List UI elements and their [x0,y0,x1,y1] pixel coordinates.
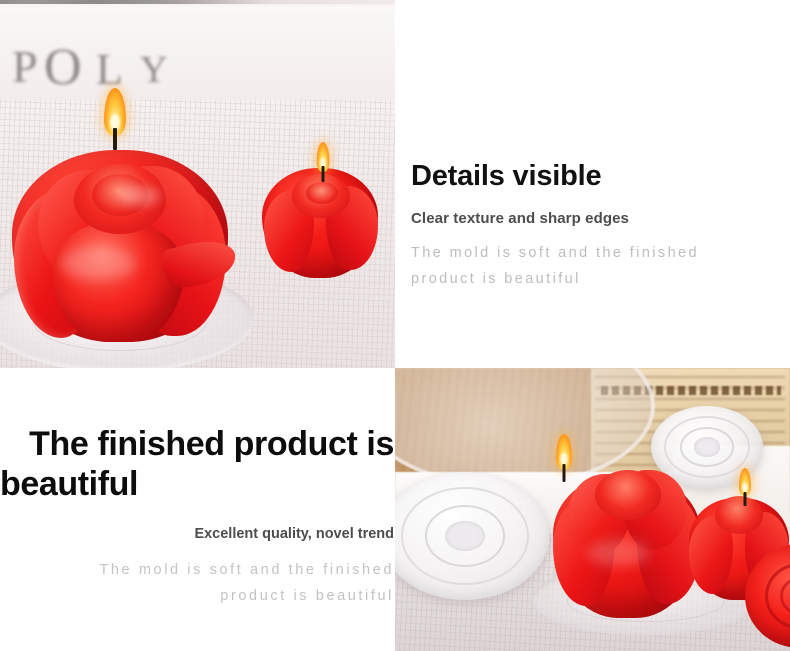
candle-flame-icon [312,142,334,182]
text-block-details-visible: Details visible Clear texture and sharp … [411,160,790,292]
body-line-2: product is beautiful [0,584,394,609]
product-banner: P O L Y [0,0,790,651]
text-panel-top-right: Details visible Clear texture and sharp … [395,0,790,368]
subheading-excellent-quality: Excellent quality, novel trend [0,526,394,542]
heading-details-visible: Details visible [411,160,790,192]
subheading-clear-texture: Clear texture and sharp edges [411,210,790,227]
body-line-1: The mold is soft and the finished [411,241,790,266]
candle-flame-icon [551,434,577,482]
body-text-bottom-left: The mold is soft and the finished produc… [0,558,394,609]
heading-line-1: The finished product is [29,425,394,463]
blurred-letter-icon: P [12,40,38,93]
heading-finished-product: The finished product is beautiful [0,424,394,504]
body-line-2: product is beautiful [411,267,790,292]
body-text-top-right: The mold is soft and the finished produc… [411,241,790,292]
candle-flame-icon [735,468,755,506]
blurred-letter-icon: O [44,38,82,97]
candle-flame-icon [98,88,132,150]
blurred-letter-icon: Y [140,48,167,92]
body-line-1: The mold is soft and the finished [0,558,394,583]
photo-top-left-rose-candles: P O L Y [0,4,395,368]
red-rose-candle-corner [745,544,790,648]
large-red-rose-candle [12,126,228,342]
photo-bottom-right-molds-and-candles [395,368,790,651]
heading-line-2: beautiful [0,464,394,504]
text-block-finished-product: The finished product is beautiful Excell… [0,424,394,609]
